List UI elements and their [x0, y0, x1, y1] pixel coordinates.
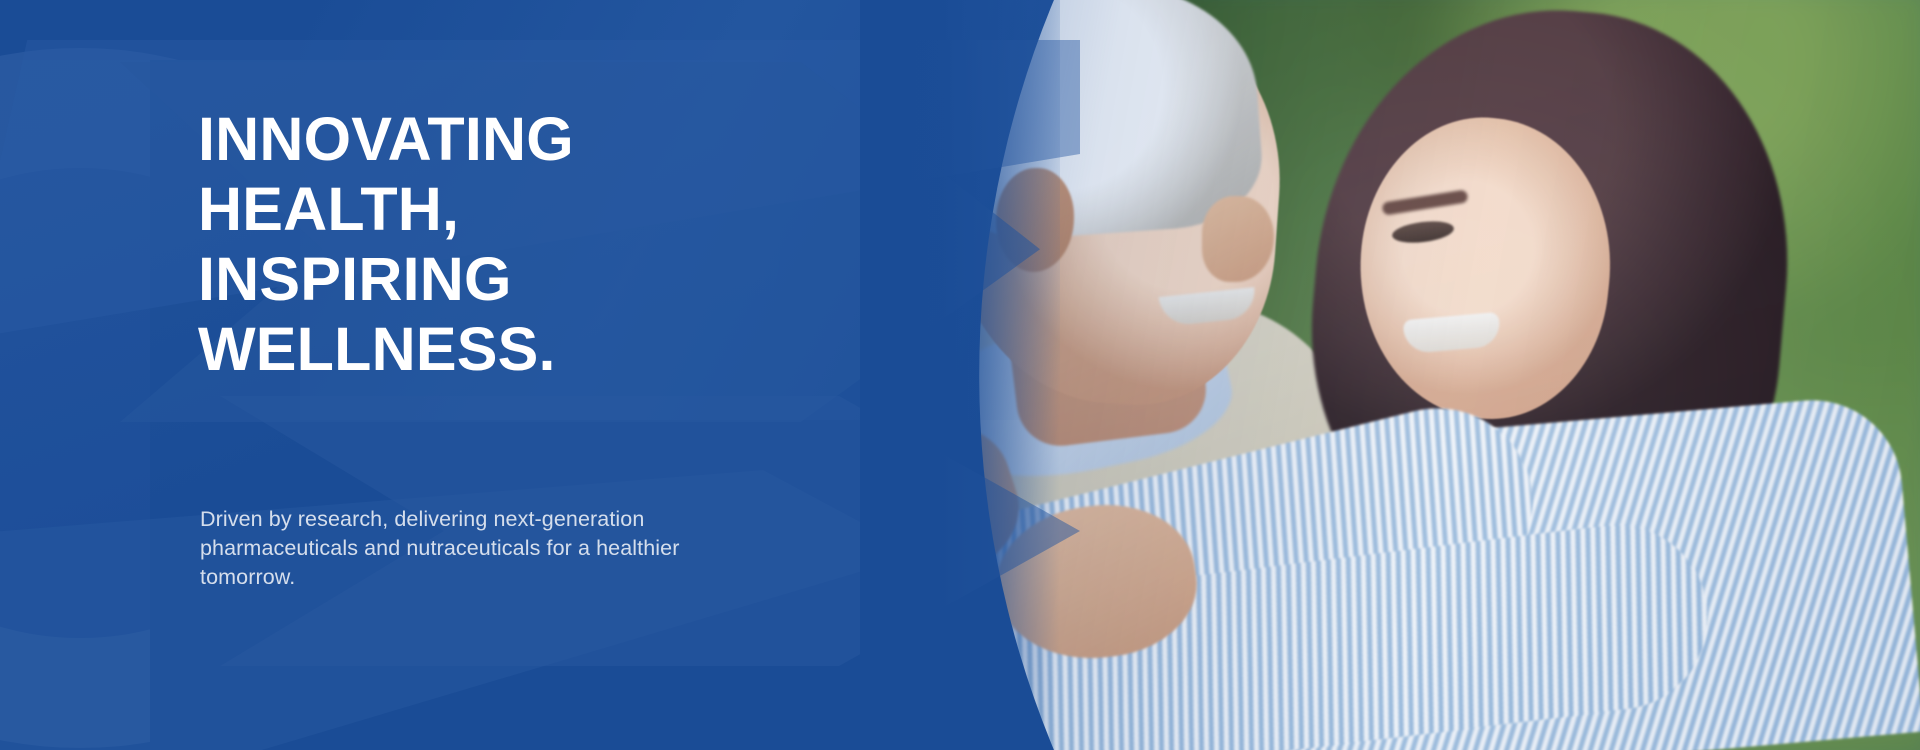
- hero-banner: INNOVATING HEALTH, INSPIRING WELLNESS. D…: [0, 0, 1920, 750]
- panel-photo-blend: [860, 0, 1060, 750]
- hero-headline: INNOVATING HEALTH, INSPIRING WELLNESS.: [198, 104, 798, 384]
- hero-content: INNOVATING HEALTH, INSPIRING WELLNESS. D…: [198, 0, 798, 750]
- hero-subcopy: Driven by research, delivering next-gene…: [200, 505, 740, 592]
